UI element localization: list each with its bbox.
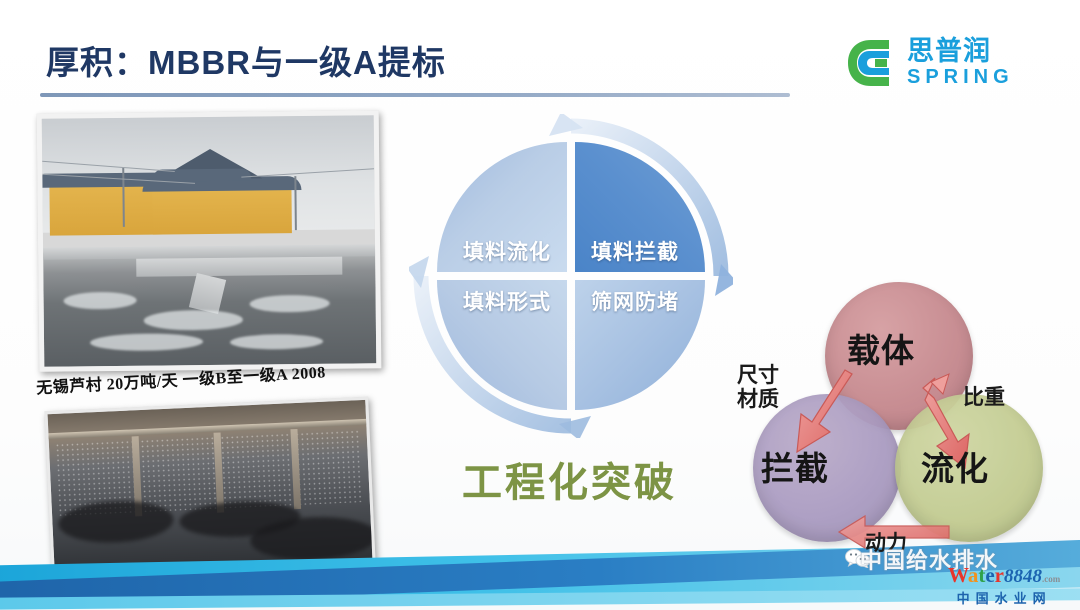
cycle-arrows xyxy=(409,114,733,438)
cycle-quadrant-label: 填料形式 xyxy=(463,286,551,316)
wastewater-aeration-tank-photo xyxy=(37,110,382,372)
cycle-quadrant-top-right[interactable]: 填料拦截 xyxy=(575,142,705,272)
slide-canvas: 厚积：MBBR与一级A提标 思普润 SPRING xyxy=(0,0,1080,610)
title-underline-divider xyxy=(40,93,790,97)
logo-cn-name: 思普润 xyxy=(907,36,1014,66)
logo-en-name: SPRING xyxy=(907,66,1014,88)
logo-text-block: 思普润 SPRING xyxy=(907,36,1014,88)
photo-tank-wall xyxy=(136,257,342,277)
water8848-watermark: Water8848.com 中国水业网 xyxy=(948,566,1060,608)
venn-annotation-material: 材质 xyxy=(737,388,779,412)
breakthrough-heading: 工程化突破 xyxy=(462,450,677,508)
cycle-quadrant-label: 填料流化 xyxy=(463,236,551,266)
water-letter-e: e xyxy=(985,563,994,587)
water-site-cn-name: 中国水业网 xyxy=(948,589,1060,608)
venn-annotation-specific-gravity: 比重 xyxy=(963,386,1005,410)
cycle-quadrant-label: 筛网防堵 xyxy=(591,286,679,316)
cycle-quadrant-label: 填料拦截 xyxy=(591,236,679,266)
venn-annotation-size: 尺寸 xyxy=(737,364,779,388)
page-title: 厚积：MBBR与一级A提标 xyxy=(46,36,446,84)
venn-label-carrier: 载体 xyxy=(847,324,915,372)
photo-building-right xyxy=(152,186,292,235)
cycle-quadrant-bottom-right[interactable]: 筛网防堵 xyxy=(575,280,705,410)
water-letter-w: W xyxy=(948,563,968,587)
cycle-quadrant-top-left[interactable]: 填料流化 xyxy=(437,142,567,272)
water-site-number: 8848 xyxy=(1004,566,1042,587)
spring-logo-mark-icon xyxy=(845,38,897,88)
water8848-wordmark: Water8848.com xyxy=(948,566,1060,589)
brand-logo: 思普润 SPRING xyxy=(845,36,1045,92)
carrier-venn-diagram: 载体 拦截 流化 尺寸 材质 比重 动力 xyxy=(735,282,1065,572)
venn-label-retention: 拦截 xyxy=(761,442,829,490)
engineering-cycle-diagram: 填料流化 填料拦截 填料形式 筛网防堵 xyxy=(437,142,705,410)
water-letter-a: a xyxy=(968,563,979,587)
venn-annotation-size-material: 尺寸 材质 xyxy=(737,364,779,412)
venn-label-fluidization: 流化 xyxy=(921,442,989,490)
water-letter-r: r xyxy=(995,563,1004,587)
water-site-tld: .com xyxy=(1042,574,1060,584)
cycle-quadrant-bottom-left[interactable]: 填料形式 xyxy=(437,280,567,410)
